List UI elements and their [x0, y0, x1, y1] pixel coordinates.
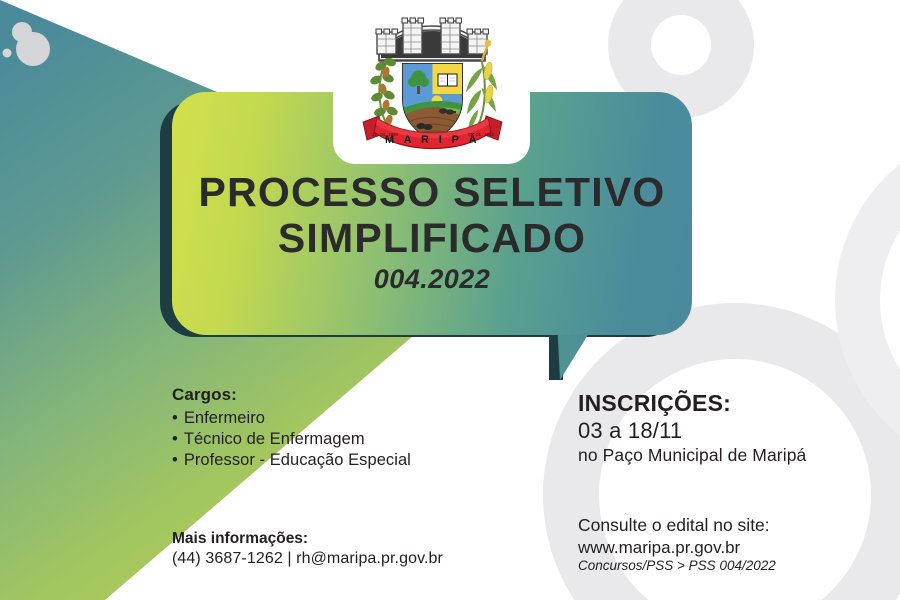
- inscricoes-dates: 03 a 18/11: [578, 418, 898, 443]
- inscricoes-place: no Paço Municipal de Maripá: [578, 445, 898, 466]
- mais-informacoes-block: Mais informações: (44) 3687-1262 | rh@ma…: [172, 530, 512, 568]
- mais-informacoes-heading: Mais informações:: [172, 530, 512, 548]
- list-item: Técnico de Enfermagem: [172, 429, 502, 450]
- cargos-list: Enfermeiro Técnico de Enfermagem Profess…: [172, 408, 502, 470]
- edital-path: Concursos/PSS > PSS 004/2022: [578, 558, 900, 574]
- poster-canvas: M A R I P Á 27 . 04 . 1990 01 . 01 . 199…: [0, 0, 900, 600]
- headline-block: PROCESSO SELETIVO SIMPLIFICADO 004.2022: [172, 92, 692, 335]
- edital-block: Consulte o edital no site: www.maripa.pr…: [578, 515, 900, 574]
- cargos-block: Cargos: Enfermeiro Técnico de Enfermagem…: [172, 385, 502, 470]
- list-item: Professor - Educação Especial: [172, 450, 502, 471]
- cargos-heading: Cargos:: [172, 385, 502, 405]
- contact-line: (44) 3687-1262 | rh@maripa.pr.gov.br: [172, 550, 512, 568]
- mural-crown: [376, 18, 489, 61]
- inscricoes-block: INSCRIÇÕES: 03 a 18/11 no Paço Municipal…: [578, 390, 898, 466]
- title-line-1: PROCESSO SELETIVO: [199, 170, 666, 216]
- edital-site-url[interactable]: www.maripa.pr.gov.br: [578, 538, 900, 558]
- list-item: Enfermeiro: [172, 408, 502, 429]
- edital-number: 004.2022: [374, 264, 491, 295]
- inscricoes-heading: INSCRIÇÕES:: [578, 390, 898, 416]
- title-line-2: SIMPLIFICADO: [278, 216, 586, 262]
- edital-heading: Consulte o edital no site:: [578, 515, 900, 537]
